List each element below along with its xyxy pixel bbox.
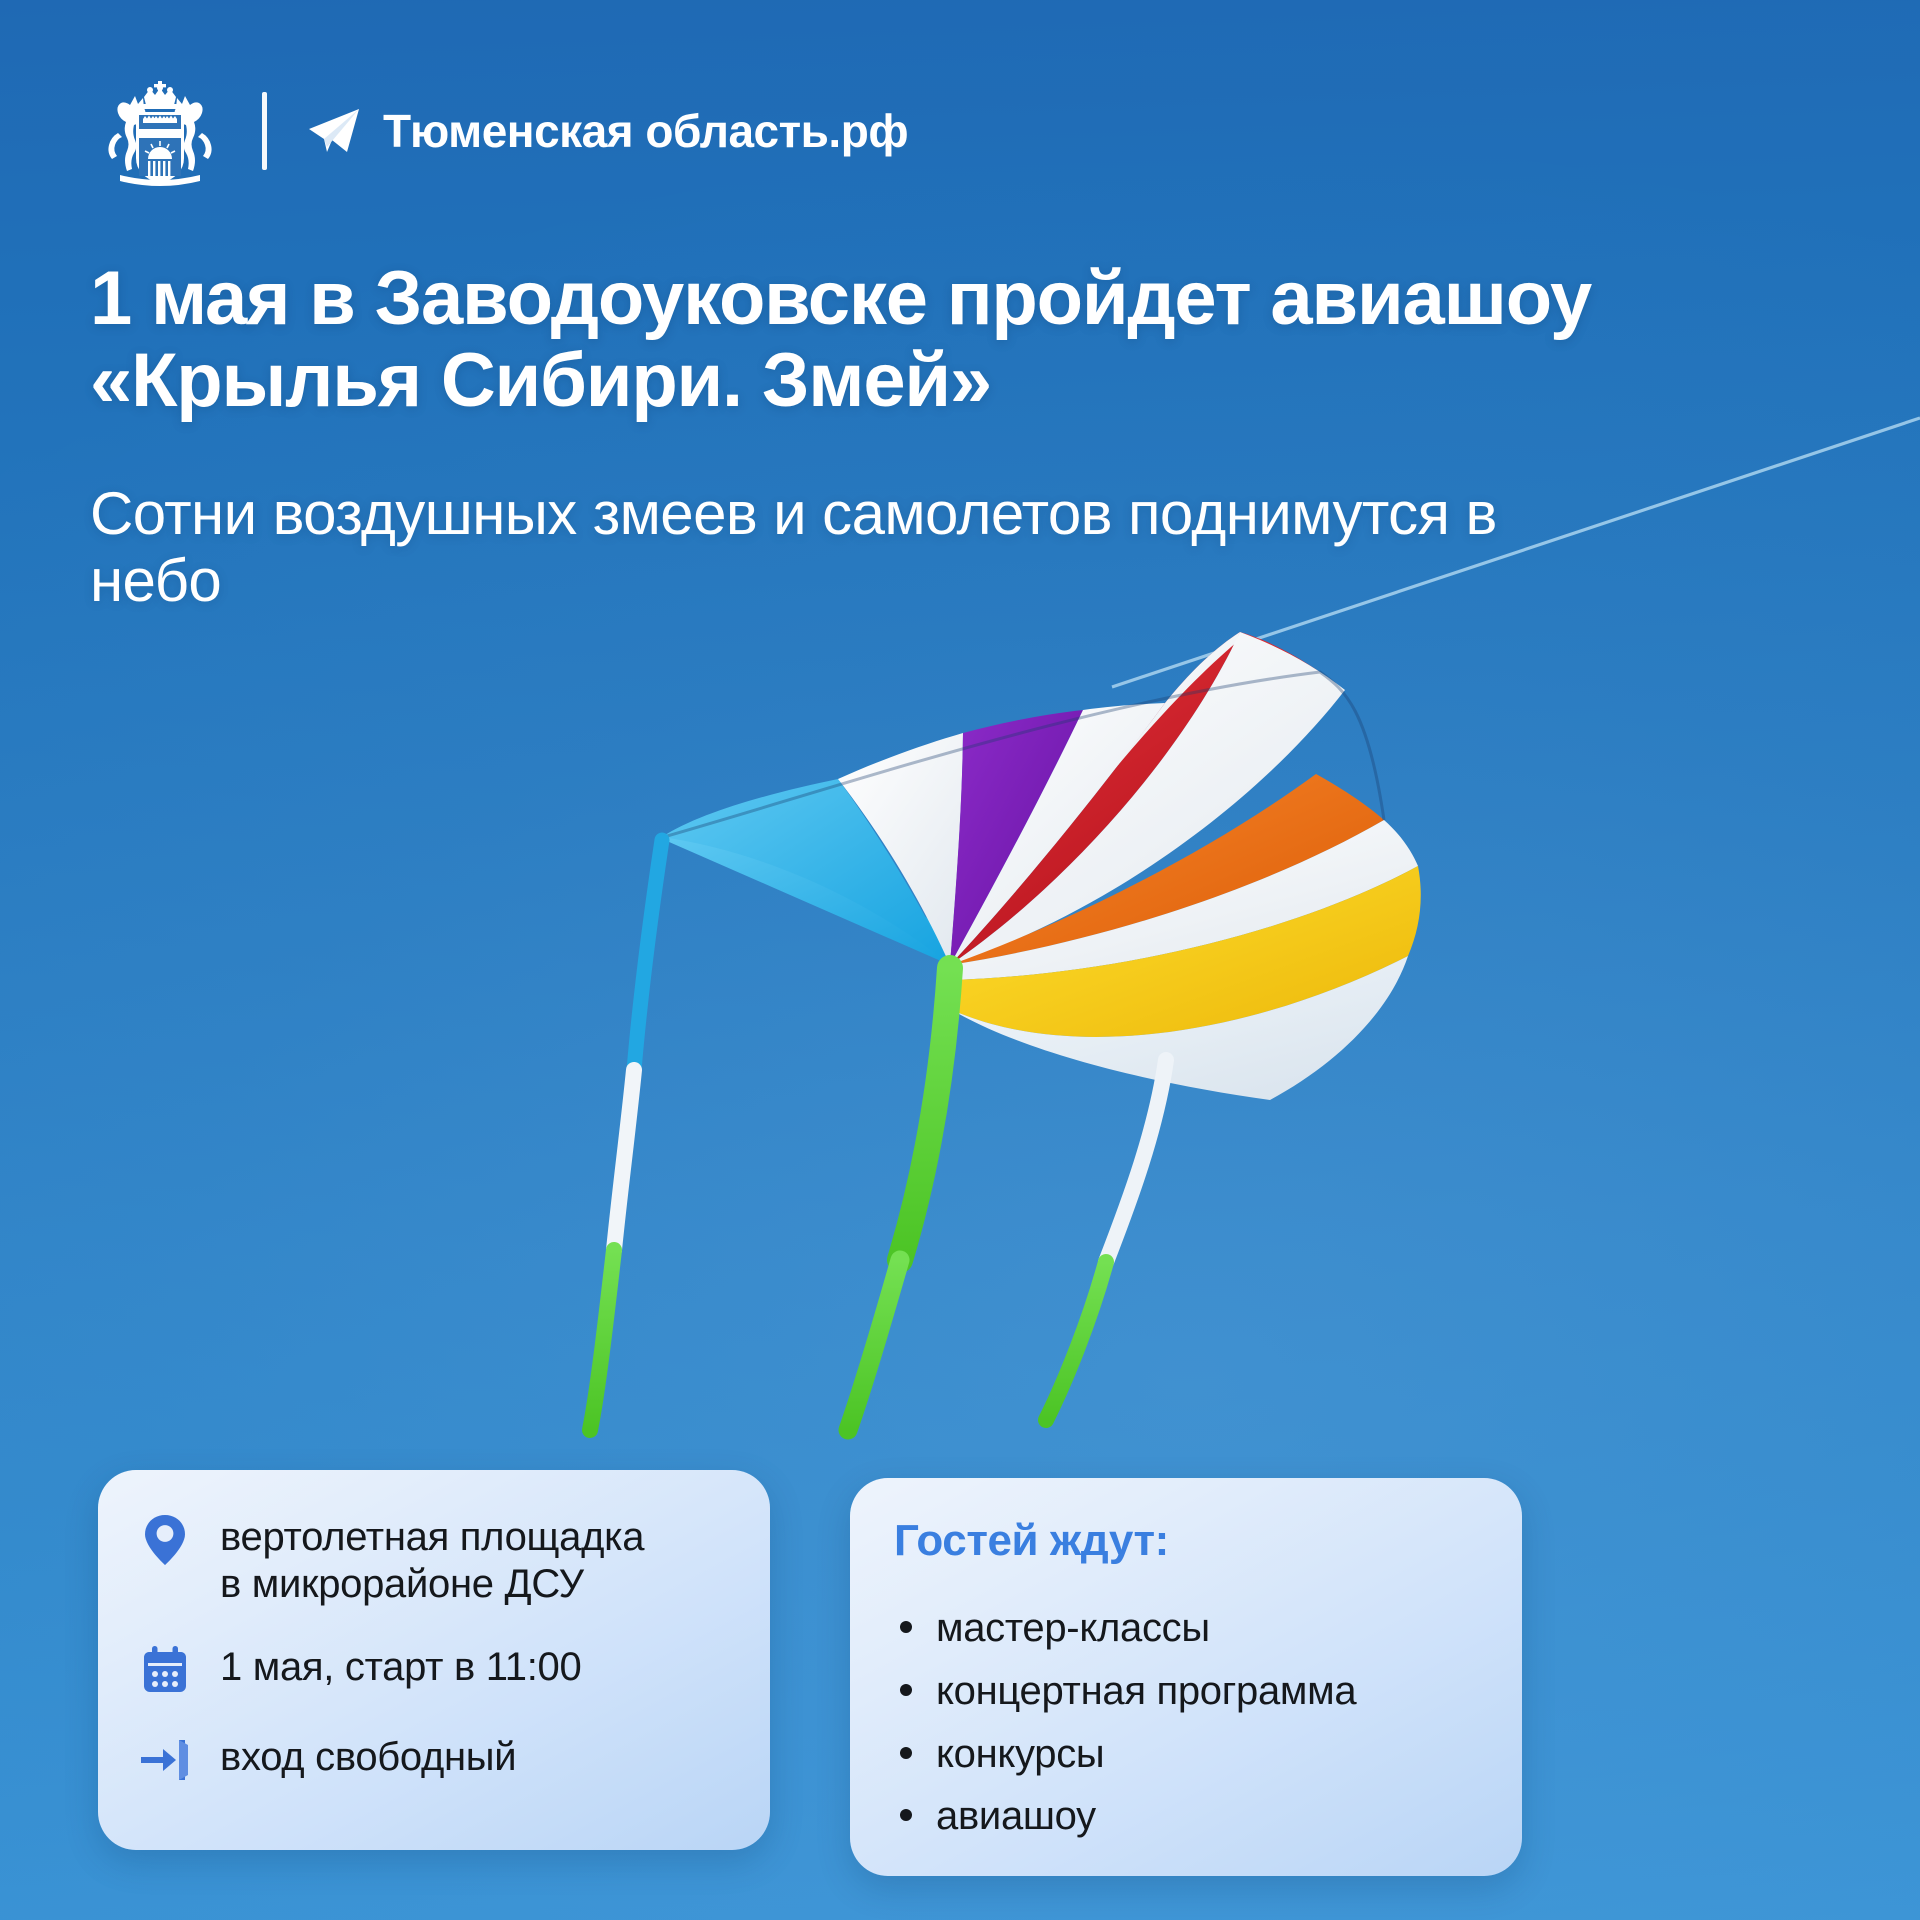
page-subtitle: Сотни воздушных змеев и самолетов подним… <box>90 480 1510 614</box>
guests-card: Гостей ждут: мастер-классы концертная пр… <box>850 1478 1522 1876</box>
guests-activities-list: мастер-классы концертная программа конку… <box>900 1606 1504 1839</box>
brand-header: Тюменская область.рф <box>90 78 908 184</box>
bullet-icon <box>900 1684 912 1696</box>
bullet-icon <box>900 1809 912 1821</box>
tail-left-cyan <box>634 840 662 1070</box>
tail-right-green <box>1046 1262 1106 1420</box>
event-details-list: вертолетная площадка в микрорайоне ДСУ <box>138 1512 746 1788</box>
event-details-card: вертолетная площадка в микрорайоне ДСУ <box>98 1470 770 1850</box>
calendar-icon <box>138 1642 192 1698</box>
kite-sail <box>629 632 1421 1100</box>
list-item: мастер-классы <box>900 1606 1504 1651</box>
location-pin-icon <box>138 1512 192 1568</box>
guests-card-heading: Гостей ждут: <box>894 1516 1169 1566</box>
guest-item-label: конкурсы <box>936 1732 1104 1777</box>
location-text: вертолетная площадка в микрорайоне ДСУ <box>220 1512 644 1608</box>
list-item: концертная программа <box>900 1669 1504 1714</box>
guest-item-label: авиашоу <box>936 1794 1096 1839</box>
date-time-text: 1 мая, старт в 11:00 <box>220 1642 581 1691</box>
entrance-text: вход свободный <box>220 1732 516 1781</box>
guest-item-label: мастер-классы <box>936 1606 1210 1651</box>
tail-center-green-2 <box>848 1260 900 1430</box>
brand-name: Тюменская область.рф <box>383 104 908 158</box>
list-item: вход свободный <box>138 1732 746 1788</box>
list-item: 1 мая, старт в 11:00 <box>138 1642 746 1698</box>
header-divider <box>262 92 267 170</box>
poster-canvas: Тюменская область.рф 1 мая в Заводоуковс… <box>0 0 1920 1920</box>
tail-left-green <box>590 1250 614 1430</box>
tail-right-white <box>1106 1060 1166 1262</box>
guest-item-label: концертная программа <box>936 1669 1356 1714</box>
entrance-arrow-icon <box>138 1732 192 1788</box>
page-title: 1 мая в Заводоуковске пройдет авиашоу «К… <box>90 258 1650 422</box>
bullet-icon <box>900 1747 912 1759</box>
tyumen-oblast-coat-of-arms-icon <box>90 75 230 187</box>
telegram-icon <box>305 102 363 160</box>
list-item: авиашоу <box>900 1794 1504 1839</box>
list-item: вертолетная площадка в микрорайоне ДСУ <box>138 1512 746 1608</box>
list-item: конкурсы <box>900 1732 1504 1777</box>
tail-center-green <box>900 968 950 1260</box>
bullet-icon <box>900 1621 912 1633</box>
tail-left-white <box>614 1070 634 1250</box>
